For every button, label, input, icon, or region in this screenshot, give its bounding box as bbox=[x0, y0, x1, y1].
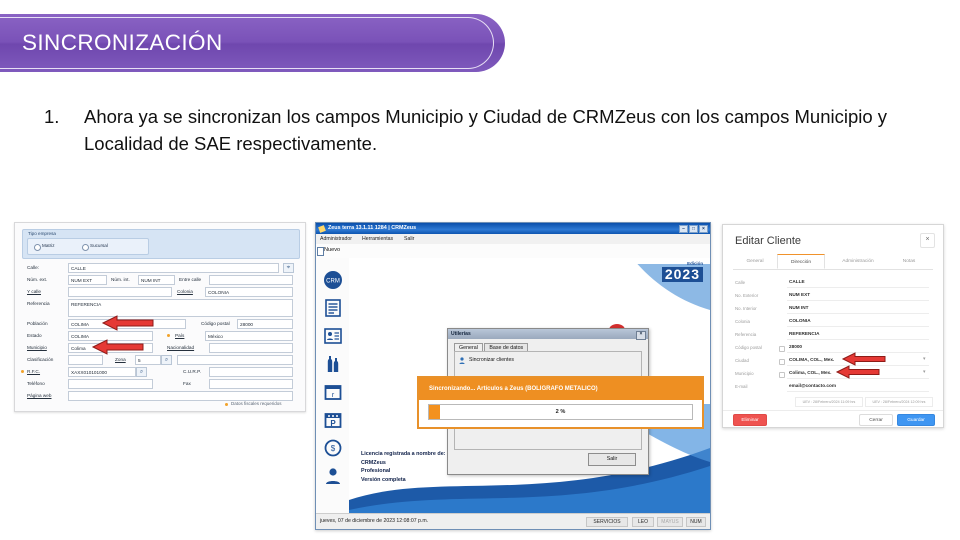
arrow-sae-poblacion bbox=[101, 315, 155, 331]
bullet-text: Ahora ya se sincronizan los campos Munic… bbox=[84, 104, 924, 158]
window-controls[interactable]: – □ × bbox=[679, 225, 708, 233]
lock-icon-ciudad bbox=[779, 359, 785, 365]
input-clasificacion[interactable] bbox=[68, 355, 103, 365]
label-calle: Calle bbox=[735, 280, 745, 285]
label-clasificacion: Clasificación bbox=[27, 357, 53, 362]
arrow-ec-ciudad bbox=[841, 352, 887, 366]
input-entre-calle[interactable] bbox=[209, 275, 293, 285]
sync-progress-label: 2 % bbox=[429, 405, 692, 421]
document-icon[interactable] bbox=[323, 298, 343, 318]
tipo-empresa-group: Tipo empresa Matriz Sucursal bbox=[22, 229, 300, 259]
value-colonia[interactable]: COLONIA bbox=[789, 318, 811, 323]
input-zona-desc[interactable] bbox=[177, 355, 293, 365]
label-rfc: R.F.C. bbox=[27, 369, 40, 374]
crm-titlebar: Zeus terra 13.1.11 1284 | CRMZeus – □ × bbox=[316, 223, 710, 234]
money-icon[interactable]: $ bbox=[323, 438, 343, 458]
crm-statusbar: jueves, 07 de diciembre de 2023 12:08:07… bbox=[316, 513, 710, 529]
input-curp[interactable] bbox=[209, 367, 293, 377]
field-underline bbox=[787, 287, 929, 288]
license-line-1: Licencia registrada a nombre de: bbox=[361, 450, 445, 459]
crm-sidebar[interactable]: CRM r P $ bbox=[316, 258, 350, 514]
calendar-icon[interactable]: P bbox=[323, 410, 343, 430]
rfc-lookup-icon[interactable]: ⌕ bbox=[136, 367, 147, 377]
chevron-down-icon-municipio[interactable]: ▾ bbox=[923, 369, 926, 375]
menu-herramientas[interactable]: Herramientas bbox=[362, 236, 393, 242]
label-calle: Calle: bbox=[27, 265, 39, 270]
fiscal-required-note: Datos fiscales requeridos bbox=[231, 401, 282, 406]
editar-cliente-title: Editar Cliente bbox=[735, 235, 801, 247]
label-curp: C.U.R.P. bbox=[183, 369, 201, 374]
license-line-4: Versión completa bbox=[361, 476, 445, 485]
tab-direccion[interactable]: Dirección bbox=[777, 254, 825, 269]
cerrar-button[interactable]: Cerrar bbox=[859, 414, 893, 426]
input-calle[interactable]: CALLE bbox=[68, 263, 279, 273]
input-y-calle[interactable] bbox=[68, 287, 172, 297]
label-municipio: Municipio bbox=[27, 345, 47, 350]
status-cell-num: NUM bbox=[686, 517, 706, 527]
guardar-button[interactable]: Guardar bbox=[897, 414, 935, 426]
label-zona: Zona bbox=[115, 357, 126, 362]
label-colonia: Colonia bbox=[735, 319, 750, 324]
field-underline bbox=[787, 339, 929, 340]
utilerias-close-icon[interactable]: × bbox=[636, 331, 646, 340]
background-wave-top-graphic bbox=[349, 264, 710, 324]
input-num-ext[interactable]: NUM EXT bbox=[68, 275, 107, 285]
value-municipio[interactable]: Colima, COL., Mex. bbox=[789, 370, 831, 375]
tipo-empresa-label: Tipo empresa bbox=[28, 231, 56, 236]
label-pais: País bbox=[175, 333, 184, 338]
svg-text:P: P bbox=[330, 419, 336, 428]
status-cell-servicios: SERVICIOS bbox=[586, 517, 628, 527]
input-codigo-postal[interactable]: 28000 bbox=[237, 319, 293, 329]
app-icon bbox=[318, 225, 326, 233]
svg-text:$: $ bbox=[330, 444, 335, 453]
label-referencia: Referencia bbox=[735, 332, 756, 337]
status-cell-leo: LEO bbox=[632, 517, 654, 527]
value-email[interactable]: email@contacto.com bbox=[789, 383, 836, 388]
license-block: Licencia registrada a nombre de: CRMZeus… bbox=[361, 450, 445, 484]
tab-administracion[interactable]: Administración bbox=[827, 254, 889, 269]
timestamp-created: UEV : 28/Febrero/2024 11:09 hrs bbox=[795, 397, 863, 407]
radio-sucursal[interactable]: Sucursal bbox=[90, 243, 108, 248]
field-underline bbox=[787, 300, 929, 301]
input-nacionalidad[interactable] bbox=[209, 343, 293, 353]
required-dot-pais bbox=[167, 334, 170, 337]
license-line-2: CRMZeus bbox=[361, 459, 445, 468]
label-ciudad: Ciudad bbox=[735, 358, 749, 363]
license-line-3: Profesional bbox=[361, 467, 445, 476]
input-pais[interactable]: México bbox=[205, 331, 293, 341]
crm-toolbar: Nuevo bbox=[316, 244, 710, 259]
label-fax: Fax bbox=[183, 381, 191, 386]
lock-icon-municipio bbox=[779, 372, 785, 378]
location-pin-icon[interactable]: ⌖ bbox=[283, 263, 294, 273]
utilerias-title: Utilerías bbox=[451, 331, 471, 337]
bullet-number: 1. bbox=[44, 104, 84, 158]
label-y-calle: Y calle bbox=[27, 289, 41, 294]
value-codigo-postal[interactable]: 28000 bbox=[789, 344, 802, 349]
label-nacionalidad: Nacionalidad bbox=[167, 345, 194, 350]
status-datetime: jueves, 07 de diciembre de 2023 12:08:07… bbox=[320, 518, 428, 524]
new-button-label: Nuevo bbox=[324, 247, 340, 253]
input-zona[interactable]: 5 bbox=[135, 355, 161, 365]
arrow-ec-municipio bbox=[835, 365, 881, 379]
bottles-icon[interactable] bbox=[323, 354, 343, 374]
value-referencia[interactable]: REFERENCIA bbox=[789, 331, 819, 336]
close-icon[interactable]: × bbox=[920, 233, 935, 248]
input-colonia[interactable]: COLONIA bbox=[205, 287, 293, 297]
document-icon bbox=[317, 247, 324, 256]
sync-message: Sincronizando... Artículos a Zeus (BOLIG… bbox=[419, 378, 702, 400]
editar-cliente-tabs[interactable]: General Dirección Administración Notas bbox=[733, 254, 933, 270]
new-button[interactable]: Nuevo bbox=[324, 247, 340, 253]
value-calle[interactable]: CALLE bbox=[789, 279, 805, 284]
value-ciudad[interactable]: COLIMA, COL., Mex. bbox=[789, 357, 834, 362]
maximize-button[interactable]: □ bbox=[689, 225, 698, 233]
label-num-int: Núm. int. bbox=[111, 277, 130, 282]
input-rfc[interactable]: XAXX010101000 bbox=[68, 367, 136, 377]
sae-form-screenshot: Tipo empresa Matriz Sucursal Calle: CALL… bbox=[14, 222, 306, 412]
contact-card-icon[interactable] bbox=[323, 326, 343, 346]
label-poblacion: Población bbox=[27, 321, 48, 326]
menu-salir[interactable]: Salir bbox=[404, 236, 414, 242]
tab-notas[interactable]: Notas bbox=[891, 254, 927, 269]
required-dot-rfc bbox=[21, 370, 24, 373]
field-underline bbox=[787, 313, 929, 314]
value-no-interior[interactable]: NUM INT bbox=[789, 305, 809, 310]
label-pagina-web: Página web bbox=[27, 393, 52, 398]
tipo-empresa-radios[interactable]: Matriz Sucursal bbox=[27, 238, 149, 255]
svg-text:r: r bbox=[331, 392, 334, 399]
minimize-button[interactable]: – bbox=[679, 225, 688, 233]
label-no-exterior: No. Exterior bbox=[735, 293, 758, 298]
value-no-exterior[interactable]: NUM EXT bbox=[789, 292, 810, 297]
page-title: SINCRONIZACIÓN bbox=[22, 14, 223, 72]
input-telefono[interactable] bbox=[68, 379, 153, 389]
close-button[interactable]: × bbox=[699, 225, 708, 233]
input-fax[interactable] bbox=[209, 379, 293, 389]
sync-progress-dialog: Sincronizando... Artículos a Zeus (BOLIG… bbox=[417, 376, 704, 429]
label-municipio: Municipio bbox=[735, 371, 754, 376]
arrow-sae-municipio bbox=[91, 339, 145, 355]
eliminar-button[interactable]: Eliminar bbox=[733, 414, 767, 426]
radio-matriz[interactable]: Matriz bbox=[42, 243, 55, 248]
utilerias-salir-button[interactable]: Salir bbox=[588, 453, 636, 466]
field-underline bbox=[787, 326, 929, 327]
edition-year: 2023 bbox=[662, 267, 703, 282]
label-no-interior: No. Interior bbox=[735, 306, 757, 311]
lock-icon-codigo-postal bbox=[779, 346, 785, 352]
crm-title-text: Zeus terra 13.1.11 1284 | CRMZeus bbox=[328, 225, 416, 231]
slide-header: SINCRONIZACIÓN bbox=[0, 14, 512, 72]
box-icon[interactable]: r bbox=[323, 382, 343, 402]
tab-general[interactable]: General bbox=[733, 254, 777, 269]
timestamp-modified: UEV : 28/Febrero/2024 12:09 hrs bbox=[865, 397, 933, 407]
sync-clients-icon bbox=[459, 357, 465, 364]
label-telefono: Teléfono bbox=[27, 381, 45, 386]
editar-cliente-screenshot: Editar Cliente × General Dirección Admin… bbox=[722, 224, 944, 428]
label-entre-calle: Entre calle bbox=[179, 277, 201, 282]
label-email: E-mail bbox=[735, 384, 747, 389]
menu-administrador[interactable]: Administrador bbox=[320, 236, 352, 242]
edition-badge: Edición 2023 bbox=[662, 261, 703, 284]
crm-icon[interactable]: CRM bbox=[323, 270, 343, 290]
input-pagina-web[interactable] bbox=[68, 391, 293, 401]
input-num-int[interactable]: NUM INT bbox=[138, 275, 175, 285]
utilerias-titlebar: Utilerías × bbox=[448, 329, 648, 339]
label-colonia: Colonia bbox=[177, 289, 193, 294]
label-referencia: Referencia bbox=[27, 301, 50, 306]
field-underline bbox=[787, 391, 929, 392]
bullet-item: 1. Ahora ya se sincronizan los campos Mu… bbox=[44, 104, 924, 158]
person-icon[interactable] bbox=[323, 466, 343, 486]
sync-progress-bar: 2 % bbox=[428, 404, 693, 420]
chevron-down-icon-ciudad[interactable]: ▾ bbox=[923, 356, 926, 362]
footer-divider bbox=[723, 410, 943, 411]
label-num-ext: Núm. ext. bbox=[27, 277, 47, 282]
zona-lookup-icon[interactable]: ⌕ bbox=[161, 355, 172, 365]
crmzeus-window-screenshot: Zeus terra 13.1.11 1284 | CRMZeus – □ × … bbox=[315, 222, 711, 530]
svg-text:CRM: CRM bbox=[326, 279, 340, 285]
label-estado: Estado bbox=[27, 333, 42, 338]
crm-workspace: Edición 2023 Utilerías × General Base de… bbox=[349, 258, 710, 514]
item-sincronizar-clientes[interactable]: Sincronizar clientes bbox=[469, 357, 514, 363]
label-codigo-postal: Código postal bbox=[201, 321, 230, 326]
label-codigo-postal: Código postal bbox=[735, 345, 762, 350]
status-cell-mayus: MAYUS bbox=[657, 517, 683, 527]
required-dot-legend bbox=[225, 403, 228, 406]
